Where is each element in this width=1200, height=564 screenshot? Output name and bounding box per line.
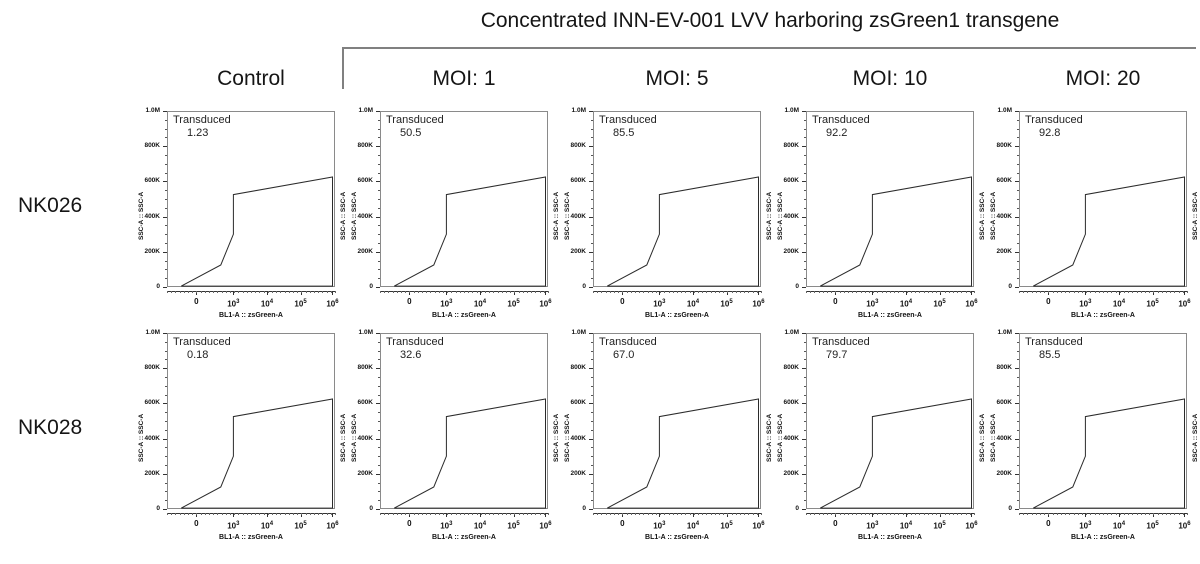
y-tick-mark bbox=[163, 474, 167, 475]
x-minor-tick bbox=[844, 291, 845, 293]
x-minor-tick bbox=[180, 513, 181, 515]
x-minor-tick bbox=[732, 291, 733, 293]
x-minor-tick bbox=[1032, 291, 1033, 293]
y-tick-mark bbox=[589, 474, 593, 475]
gate-stat-value: 85.5 bbox=[1039, 349, 1060, 362]
x-minor-tick bbox=[919, 513, 920, 515]
y-minor-tick bbox=[165, 208, 167, 209]
y-minor-tick bbox=[1017, 173, 1019, 174]
plot-nk028-moi5[interactable]: Transduced67.00200K400K600K800K1.0MSSC-A… bbox=[556, 327, 769, 547]
x-minor-tick bbox=[196, 291, 197, 293]
y-minor-tick bbox=[378, 278, 380, 279]
x-minor-tick bbox=[1053, 291, 1054, 293]
x-minor-tick bbox=[1053, 513, 1054, 515]
x-minor-tick bbox=[1162, 513, 1163, 515]
x-minor-tick bbox=[673, 291, 674, 293]
y-minor-tick bbox=[165, 269, 167, 270]
y-minor-tick bbox=[165, 412, 167, 413]
x-minor-tick bbox=[1158, 291, 1159, 293]
x-minor-tick bbox=[1107, 513, 1108, 515]
y-minor-tick bbox=[1017, 421, 1019, 422]
y-tick-label: 0 bbox=[556, 283, 586, 291]
x-minor-tick bbox=[226, 513, 227, 515]
x-minor-tick bbox=[167, 291, 168, 293]
x-tick-label: 0 bbox=[394, 297, 424, 307]
x-minor-tick bbox=[493, 513, 494, 515]
gate-stat-label: Transduced bbox=[812, 336, 870, 349]
x-minor-tick bbox=[1065, 513, 1066, 515]
y-minor-tick bbox=[804, 386, 806, 387]
y-minor-tick bbox=[1017, 129, 1019, 130]
plot-nk028-moi1[interactable]: Transduced32.60200K400K600K800K1.0MSSC-A… bbox=[343, 327, 556, 547]
y-tick-mark bbox=[589, 111, 593, 112]
x-minor-tick bbox=[1128, 291, 1129, 293]
plot-nk028-control[interactable]: Transduced0.180200K400K600K800K1.0MSSC-A… bbox=[130, 327, 343, 547]
y-minor-tick bbox=[378, 261, 380, 262]
x-tick-label: 105 bbox=[1138, 519, 1168, 532]
x-minor-tick bbox=[936, 513, 937, 515]
x-minor-tick bbox=[1032, 513, 1033, 515]
x-minor-tick bbox=[856, 291, 857, 293]
x-minor-tick bbox=[873, 291, 874, 293]
x-minor-tick bbox=[610, 291, 611, 293]
y-tick-label: 200K bbox=[556, 470, 586, 478]
x-minor-tick bbox=[188, 513, 189, 515]
x-minor-tick bbox=[810, 291, 811, 293]
x-minor-tick bbox=[970, 513, 971, 515]
y-minor-tick bbox=[378, 351, 380, 352]
y-tick-mark bbox=[163, 287, 167, 288]
x-minor-tick bbox=[414, 291, 415, 293]
y-minor-tick bbox=[804, 421, 806, 422]
x-minor-tick bbox=[844, 513, 845, 515]
x-minor-tick bbox=[498, 291, 499, 293]
y-tick-label: 800K bbox=[130, 142, 160, 150]
x-tick-label: 104 bbox=[465, 519, 495, 532]
y-tick-label: 800K bbox=[769, 364, 799, 372]
x-minor-tick bbox=[171, 291, 172, 293]
y-tick-mark bbox=[589, 368, 593, 369]
y-tick-label: 200K bbox=[343, 248, 373, 256]
y-minor-tick bbox=[1017, 395, 1019, 396]
y-tick-mark bbox=[589, 252, 593, 253]
y-minor-tick bbox=[378, 386, 380, 387]
y-minor-tick bbox=[1017, 137, 1019, 138]
x-minor-tick bbox=[460, 291, 461, 293]
x-minor-tick bbox=[1069, 291, 1070, 293]
x-minor-tick bbox=[401, 291, 402, 293]
y-tick-label: 1.0M bbox=[343, 329, 373, 337]
y-minor-tick bbox=[1017, 225, 1019, 226]
x-minor-tick bbox=[280, 291, 281, 293]
x-minor-tick bbox=[919, 291, 920, 293]
x-minor-tick bbox=[322, 291, 323, 293]
y-minor-tick bbox=[804, 377, 806, 378]
y-minor-tick bbox=[1017, 465, 1019, 466]
y-tick-label: 800K bbox=[556, 364, 586, 372]
y-tick-label: 1.0M bbox=[982, 107, 1012, 115]
x-minor-tick bbox=[405, 291, 406, 293]
x-minor-tick bbox=[430, 513, 431, 515]
plot-nk026-moi20[interactable]: Transduced92.80200K400K600K800K1.0MSSC-A… bbox=[982, 105, 1195, 325]
x-minor-tick bbox=[180, 291, 181, 293]
x-minor-tick bbox=[1187, 291, 1188, 293]
y-tick-mark bbox=[589, 333, 593, 334]
x-minor-tick bbox=[439, 291, 440, 293]
y-minor-tick bbox=[804, 278, 806, 279]
x-minor-tick bbox=[622, 291, 623, 293]
y-minor-tick bbox=[165, 395, 167, 396]
x-minor-tick bbox=[757, 291, 758, 293]
x-minor-tick bbox=[711, 291, 712, 293]
y-tick-mark bbox=[163, 333, 167, 334]
x-minor-tick bbox=[610, 513, 611, 515]
x-minor-tick bbox=[1078, 291, 1079, 293]
x-minor-tick bbox=[331, 291, 332, 293]
y-tick-label: 800K bbox=[130, 364, 160, 372]
x-tick-mark bbox=[332, 513, 333, 517]
x-minor-tick bbox=[443, 291, 444, 293]
x-minor-tick bbox=[882, 291, 883, 293]
flow-cytometry-figure: Concentrated INN-EV-001 LVV harboring zs… bbox=[0, 0, 1200, 564]
x-minor-tick bbox=[1069, 513, 1070, 515]
x-minor-tick bbox=[702, 513, 703, 515]
x-minor-tick bbox=[886, 513, 887, 515]
x-minor-tick bbox=[606, 513, 607, 515]
x-minor-tick bbox=[418, 291, 419, 293]
x-minor-tick bbox=[167, 513, 168, 515]
y-tick-label: 400K bbox=[343, 435, 373, 443]
y-minor-tick bbox=[1017, 412, 1019, 413]
x-minor-tick bbox=[335, 291, 336, 293]
gate-stat-label: Transduced bbox=[599, 114, 657, 127]
y-minor-tick bbox=[804, 491, 806, 492]
plot-nk026-moi5[interactable]: Transduced85.50200K400K600K800K1.0MSSC-A… bbox=[556, 105, 769, 325]
x-minor-tick bbox=[831, 513, 832, 515]
x-minor-tick bbox=[907, 513, 908, 515]
x-minor-tick bbox=[660, 513, 661, 515]
x-minor-tick bbox=[489, 291, 490, 293]
x-minor-tick bbox=[886, 291, 887, 293]
x-minor-tick bbox=[297, 513, 298, 515]
x-minor-tick bbox=[251, 513, 252, 515]
x-minor-tick bbox=[222, 513, 223, 515]
y-minor-tick bbox=[165, 359, 167, 360]
x-minor-tick bbox=[405, 513, 406, 515]
x-minor-tick bbox=[614, 513, 615, 515]
x-minor-tick bbox=[468, 513, 469, 515]
x-minor-tick bbox=[961, 513, 962, 515]
x-minor-tick bbox=[1040, 513, 1041, 515]
x-minor-tick bbox=[827, 513, 828, 515]
x-minor-tick bbox=[384, 291, 385, 293]
y-minor-tick bbox=[591, 120, 593, 121]
y-tick-mark bbox=[1015, 287, 1019, 288]
y-axis-title: SSC-A :: SSC-A bbox=[777, 192, 784, 240]
x-minor-tick bbox=[694, 513, 695, 515]
y-axis-title: SSC-A :: SSC-A bbox=[351, 192, 358, 240]
x-minor-tick bbox=[1120, 513, 1121, 515]
x-minor-tick bbox=[230, 513, 231, 515]
y-minor-tick bbox=[165, 351, 167, 352]
y-tick-label: 600K bbox=[130, 399, 160, 407]
x-minor-tick bbox=[489, 513, 490, 515]
y-minor-tick bbox=[804, 199, 806, 200]
x-minor-tick bbox=[192, 291, 193, 293]
x-minor-tick bbox=[238, 291, 239, 293]
x-minor-tick bbox=[1095, 291, 1096, 293]
plot-nk026-control[interactable]: Transduced1.230200K400K600K800K1.0MSSC-A… bbox=[130, 105, 343, 325]
x-minor-tick bbox=[643, 291, 644, 293]
x-minor-tick bbox=[819, 513, 820, 515]
y-minor-tick bbox=[804, 129, 806, 130]
x-tick-label: 103 bbox=[644, 519, 674, 532]
x-minor-tick bbox=[945, 513, 946, 515]
x-minor-tick bbox=[835, 291, 836, 293]
y-minor-tick bbox=[1017, 351, 1019, 352]
x-axis-title: BL1-A :: zsGreen-A bbox=[593, 533, 761, 542]
x-minor-tick bbox=[247, 291, 248, 293]
y-minor-tick bbox=[165, 491, 167, 492]
y-tick-mark bbox=[376, 146, 380, 147]
x-axis-title: BL1-A :: zsGreen-A bbox=[806, 533, 974, 542]
x-tick-mark bbox=[1184, 513, 1185, 517]
x-minor-tick bbox=[222, 291, 223, 293]
x-minor-tick bbox=[1170, 513, 1171, 515]
x-minor-tick bbox=[601, 513, 602, 515]
x-minor-tick bbox=[519, 291, 520, 293]
y-minor-tick bbox=[1017, 278, 1019, 279]
plot-nk026-moi1[interactable]: Transduced50.50200K400K600K800K1.0MSSC-A… bbox=[343, 105, 556, 325]
x-minor-tick bbox=[1149, 291, 1150, 293]
x-minor-tick bbox=[1153, 291, 1154, 293]
y-tick-label: 800K bbox=[343, 142, 373, 150]
y-tick-label: 200K bbox=[769, 248, 799, 256]
x-minor-tick bbox=[823, 513, 824, 515]
y-tick-mark bbox=[589, 509, 593, 510]
y-tick-label: 0 bbox=[982, 505, 1012, 513]
y-tick-label: 800K bbox=[556, 142, 586, 150]
x-tick-label: 0 bbox=[181, 519, 211, 529]
x-minor-tick bbox=[669, 291, 670, 293]
x-minor-tick bbox=[915, 291, 916, 293]
y-tick-label: 0 bbox=[769, 505, 799, 513]
y-minor-tick bbox=[591, 269, 593, 270]
y-tick-mark bbox=[376, 287, 380, 288]
plot-nk026-moi10[interactable]: Transduced92.20200K400K600K800K1.0MSSC-A… bbox=[769, 105, 982, 325]
y-minor-tick bbox=[378, 269, 380, 270]
x-minor-tick bbox=[936, 291, 937, 293]
y-minor-tick bbox=[1017, 342, 1019, 343]
y-minor-tick bbox=[165, 234, 167, 235]
y-minor-tick bbox=[591, 421, 593, 422]
y-minor-tick bbox=[378, 377, 380, 378]
x-minor-tick bbox=[327, 513, 328, 515]
y-minor-tick bbox=[804, 261, 806, 262]
x-minor-tick bbox=[1074, 513, 1075, 515]
y-minor-tick bbox=[804, 359, 806, 360]
x-minor-tick bbox=[255, 513, 256, 515]
y-tick-mark bbox=[589, 181, 593, 182]
y-minor-tick bbox=[378, 500, 380, 501]
y-minor-tick bbox=[1017, 359, 1019, 360]
y-minor-tick bbox=[1017, 190, 1019, 191]
x-tick-label: 105 bbox=[925, 519, 955, 532]
x-tick-label: 105 bbox=[712, 519, 742, 532]
y-minor-tick bbox=[804, 395, 806, 396]
x-minor-tick bbox=[414, 513, 415, 515]
x-minor-tick bbox=[953, 513, 954, 515]
x-minor-tick bbox=[251, 291, 252, 293]
y-minor-tick bbox=[165, 155, 167, 156]
x-axis-title: BL1-A :: zsGreen-A bbox=[380, 533, 548, 542]
y-tick-label: 200K bbox=[982, 248, 1012, 256]
x-minor-tick bbox=[384, 513, 385, 515]
gate-stat-label: Transduced bbox=[173, 114, 231, 127]
y-minor-tick bbox=[1017, 120, 1019, 121]
y-minor-tick bbox=[804, 456, 806, 457]
column-header-0: Control bbox=[147, 65, 355, 93]
x-minor-tick bbox=[544, 291, 545, 293]
y-tick-label: 800K bbox=[769, 142, 799, 150]
x-minor-tick bbox=[1099, 291, 1100, 293]
x-minor-tick bbox=[1103, 291, 1104, 293]
y-minor-tick bbox=[591, 386, 593, 387]
y-axis-title: SSC-A :: SSC-A bbox=[138, 414, 145, 462]
y-tick-mark bbox=[376, 217, 380, 218]
x-minor-tick bbox=[276, 513, 277, 515]
x-minor-tick bbox=[1095, 513, 1096, 515]
x-minor-tick bbox=[230, 291, 231, 293]
x-minor-tick bbox=[907, 291, 908, 293]
y-tick-mark bbox=[376, 252, 380, 253]
y-minor-tick bbox=[1017, 164, 1019, 165]
y-axis-title: SSC-A :: SSC-A bbox=[564, 414, 571, 462]
y-minor-tick bbox=[378, 491, 380, 492]
y-tick-label: 600K bbox=[982, 399, 1012, 407]
x-minor-tick bbox=[201, 291, 202, 293]
x-minor-tick bbox=[234, 513, 235, 515]
y-minor-tick bbox=[378, 155, 380, 156]
x-minor-tick bbox=[514, 291, 515, 293]
column-header-1: MOI: 1 bbox=[360, 65, 568, 93]
x-minor-tick bbox=[502, 291, 503, 293]
x-minor-tick bbox=[757, 513, 758, 515]
x-minor-tick bbox=[1074, 291, 1075, 293]
x-tick-label: 103 bbox=[218, 297, 248, 310]
x-minor-tick bbox=[949, 291, 950, 293]
y-tick-mark bbox=[1015, 403, 1019, 404]
x-minor-tick bbox=[289, 291, 290, 293]
y-tick-label: 600K bbox=[769, 399, 799, 407]
x-minor-tick bbox=[409, 513, 410, 515]
y-tick-mark bbox=[376, 403, 380, 404]
x-minor-tick bbox=[748, 513, 749, 515]
x-minor-tick bbox=[485, 513, 486, 515]
y-minor-tick bbox=[165, 164, 167, 165]
x-minor-tick bbox=[898, 291, 899, 293]
y-tick-mark bbox=[1015, 217, 1019, 218]
x-minor-tick bbox=[748, 291, 749, 293]
x-minor-tick bbox=[184, 513, 185, 515]
x-minor-tick bbox=[314, 513, 315, 515]
x-tick-label: 103 bbox=[1070, 519, 1100, 532]
x-minor-tick bbox=[966, 291, 967, 293]
x-minor-tick bbox=[293, 513, 294, 515]
x-tick-label: 105 bbox=[712, 297, 742, 310]
x-minor-tick bbox=[631, 291, 632, 293]
plot-nk028-moi10[interactable]: Transduced79.70200K400K600K800K1.0MSSC-A… bbox=[769, 327, 982, 547]
x-minor-tick bbox=[761, 513, 762, 515]
y-minor-tick bbox=[804, 351, 806, 352]
x-tick-label: 0 bbox=[820, 519, 850, 529]
y-tick-label: 600K bbox=[556, 177, 586, 185]
y-minor-tick bbox=[378, 342, 380, 343]
x-minor-tick bbox=[974, 291, 975, 293]
y-minor-tick bbox=[165, 456, 167, 457]
x-minor-tick bbox=[1132, 513, 1133, 515]
y-tick-mark bbox=[802, 509, 806, 510]
y-minor-tick bbox=[378, 137, 380, 138]
x-minor-tick bbox=[622, 513, 623, 515]
gate-stat-value: 67.0 bbox=[613, 349, 634, 362]
x-minor-tick bbox=[460, 513, 461, 515]
x-tick-label: 103 bbox=[218, 519, 248, 532]
x-minor-tick bbox=[234, 291, 235, 293]
x-minor-tick bbox=[477, 513, 478, 515]
y-minor-tick bbox=[591, 234, 593, 235]
x-minor-tick bbox=[648, 291, 649, 293]
y-minor-tick bbox=[591, 137, 593, 138]
x-minor-tick bbox=[285, 291, 286, 293]
y-tick-label: 400K bbox=[556, 213, 586, 221]
x-minor-tick bbox=[196, 513, 197, 515]
x-minor-tick bbox=[1086, 513, 1087, 515]
x-minor-tick bbox=[331, 513, 332, 515]
x-minor-tick bbox=[418, 513, 419, 515]
x-minor-tick bbox=[1107, 291, 1108, 293]
x-minor-tick bbox=[698, 291, 699, 293]
y-tick-label: 1.0M bbox=[556, 329, 586, 337]
x-minor-tick bbox=[715, 513, 716, 515]
x-minor-tick bbox=[1057, 513, 1058, 515]
y-tick-label: 800K bbox=[982, 142, 1012, 150]
x-tick-label: 104 bbox=[891, 297, 921, 310]
y-tick-mark bbox=[376, 439, 380, 440]
x-tick-label: 105 bbox=[286, 519, 316, 532]
x-minor-tick bbox=[814, 513, 815, 515]
y-minor-tick bbox=[165, 190, 167, 191]
plot-nk028-moi20[interactable]: Transduced85.50200K400K600K800K1.0MSSC-A… bbox=[982, 327, 1195, 547]
x-minor-tick bbox=[890, 513, 891, 515]
x-minor-tick bbox=[1116, 291, 1117, 293]
y-minor-tick bbox=[378, 164, 380, 165]
y-minor-tick bbox=[378, 208, 380, 209]
x-tick-label: 104 bbox=[252, 519, 282, 532]
x-minor-tick bbox=[915, 513, 916, 515]
x-minor-tick bbox=[753, 513, 754, 515]
y-minor-tick bbox=[1017, 447, 1019, 448]
x-minor-tick bbox=[601, 291, 602, 293]
x-minor-tick bbox=[865, 291, 866, 293]
y-minor-tick bbox=[378, 199, 380, 200]
y-minor-tick bbox=[804, 342, 806, 343]
y-minor-tick bbox=[165, 386, 167, 387]
x-minor-tick bbox=[388, 513, 389, 515]
x-minor-tick bbox=[702, 291, 703, 293]
x-minor-tick bbox=[806, 291, 807, 293]
y-minor-tick bbox=[591, 351, 593, 352]
